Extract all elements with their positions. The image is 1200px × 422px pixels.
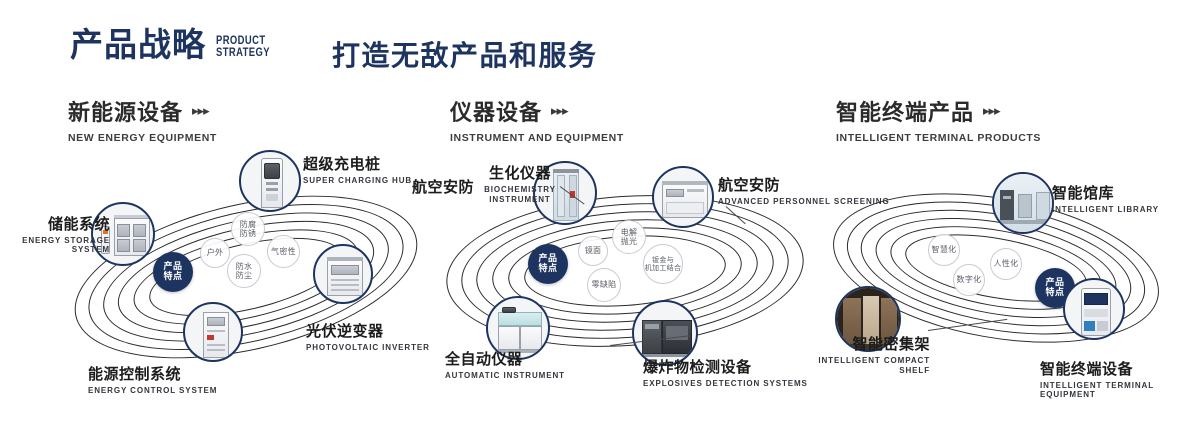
feature-line1: 防腐 xyxy=(240,220,257,230)
core-line1: 产品 xyxy=(1045,278,1064,289)
node-label-pv-inverter: 光伏逆变器 PHOTOVOLTAIC INVERTER xyxy=(306,320,430,352)
node-label-en: ENERGY CONTROL SYSTEM xyxy=(88,386,217,395)
core-bubble: 产品 特点 xyxy=(528,244,568,284)
product-node-personnel-screening[interactable] xyxy=(652,166,714,228)
node-label-cn: 全自动仪器 xyxy=(445,348,565,369)
node-label-cn: 光伏逆变器 xyxy=(306,320,430,341)
feature-bubble: 智慧化 xyxy=(928,234,960,266)
core-line2: 特点 xyxy=(538,264,557,275)
node-label-en: EXPLOSIVES DETECTION SYSTEMS xyxy=(643,379,808,388)
feature-bubble: 防水 防尘 xyxy=(227,254,261,288)
core-bubble: 产品 特点 xyxy=(153,252,193,292)
feature-line1: 人性化 xyxy=(994,259,1019,269)
page-title: 产品战略 PRODUCT STRATEGY xyxy=(70,28,282,61)
feature-bubble: 电解 抛光 xyxy=(612,220,646,254)
node-label-terminal-equipment: 智能终端设备 INTELLIGENT TERMINAL EQUIPMENT xyxy=(1040,358,1200,399)
feature-line2: 抛光 xyxy=(621,237,638,247)
section-title-cn: 智能终端产品 xyxy=(836,95,974,127)
section-title-en: NEW ENERGY EQUIPMENT xyxy=(68,132,217,144)
feature-line2: 机加工结合 xyxy=(645,264,682,273)
product-node-pv-inverter[interactable] xyxy=(313,244,373,304)
feature-line1: 零缺陷 xyxy=(592,280,617,290)
chevron-right-icon: ▸▸▸ xyxy=(192,103,209,119)
node-label-explosives-detection: 爆炸物检测设备 EXPLOSIVES DETECTION SYSTEMS xyxy=(643,356,808,388)
core-line2: 特点 xyxy=(163,272,182,283)
feature-line1: 户外 xyxy=(207,248,224,258)
chevron-right-icon: ▸▸▸ xyxy=(551,103,568,119)
node-label-en: PHOTOVOLTAIC INVERTER xyxy=(306,343,430,352)
feature-line2: 防尘 xyxy=(236,271,253,281)
node-label-biochemistry: 生化仪器 BIOCHEMISTRY INSTRUMENT xyxy=(460,162,580,205)
section-title-en: INTELLIGENT TERMINAL PRODUCTS xyxy=(836,132,1041,144)
node-label-charging-hub: 超级充电桩 SUPER CHARGING HUB xyxy=(303,153,412,185)
node-label-cn: 智能馆库 xyxy=(1052,182,1159,203)
product-node-intelligent-library[interactable] xyxy=(992,172,1054,234)
feature-bubble: 数字化 xyxy=(953,264,985,296)
node-label-intelligent-library: 智能馆库 INTELLIGENT LIBRARY xyxy=(1052,182,1159,214)
title-en-line2: STRATEGY xyxy=(216,47,270,59)
core-line2: 特点 xyxy=(1045,288,1064,299)
node-label-en: INTELLIGENT COMPACT SHELF xyxy=(790,356,930,376)
node-label-en: ENERGY STORAGE SYSTEM xyxy=(10,236,110,254)
node-label-cn: 能源控制系统 xyxy=(88,363,217,384)
feature-line1: 气密性 xyxy=(271,247,296,257)
title-en-line1: PRODUCT xyxy=(216,35,270,47)
section-title-en: INSTRUMENT AND EQUIPMENT xyxy=(450,132,624,144)
feature-bubble: 气密性 xyxy=(267,235,300,268)
feature-bubble: 户外 xyxy=(200,238,230,268)
node-label-cn: 生化仪器 xyxy=(460,162,580,183)
feature-line1: 钣金与 xyxy=(645,256,682,265)
core-line1: 产品 xyxy=(163,262,182,273)
section-heading-new-energy: 新能源设备 ▸▸▸ NEW ENERGY EQUIPMENT xyxy=(68,95,217,144)
node-label-en: INTELLIGENT LIBRARY xyxy=(1052,205,1159,214)
feature-line1: 数字化 xyxy=(957,275,982,285)
feature-line1: 智慧化 xyxy=(932,245,957,255)
feature-bubble: 镜面 xyxy=(578,236,608,266)
title-en: PRODUCT STRATEGY xyxy=(216,35,270,59)
product-node-energy-control[interactable] xyxy=(183,302,243,362)
section-title-cn: 仪器设备 xyxy=(450,95,542,127)
section-heading-intelligent-terminal: 智能终端产品 ▸▸▸ INTELLIGENT TERMINAL PRODUCTS xyxy=(836,95,1041,144)
node-label-cn: 智能密集架 xyxy=(790,333,930,354)
node-label-cn: 超级充电桩 xyxy=(303,153,412,174)
node-label-energy-control: 能源控制系统 ENERGY CONTROL SYSTEM xyxy=(88,363,217,395)
product-node-charging-hub[interactable] xyxy=(239,150,301,212)
node-label-energy-storage: 储能系统 ENERGY STORAGE SYSTEM xyxy=(10,213,110,254)
title-cn: 产品战略 xyxy=(70,28,206,61)
feature-bubble: 人性化 xyxy=(990,248,1022,280)
feature-line1: 镜面 xyxy=(585,246,602,256)
product-node-terminal-equipment[interactable] xyxy=(1063,278,1125,340)
node-label-automatic-instrument: 全自动仪器 AUTOMATIC INSTRUMENT xyxy=(445,348,565,380)
core-line1: 产品 xyxy=(538,254,557,265)
page-subtitle: 打造无敌产品和服务 xyxy=(332,34,598,74)
node-label-cn: 智能终端设备 xyxy=(1040,358,1200,379)
node-label-compact-shelf: 智能密集架 INTELLIGENT COMPACT SHELF xyxy=(790,333,930,376)
node-label-en: INTELLIGENT TERMINAL EQUIPMENT xyxy=(1040,381,1200,399)
node-label-en: SUPER CHARGING HUB xyxy=(303,176,412,185)
node-label-cn: 储能系统 xyxy=(10,213,110,234)
feature-line2: 防锈 xyxy=(240,229,257,239)
chevron-right-icon: ▸▸▸ xyxy=(983,103,1000,119)
feature-bubble: 钣金与 机加工结合 xyxy=(643,244,683,284)
node-label-cn: 爆炸物检测设备 xyxy=(643,356,808,377)
feature-bubble: 零缺陷 xyxy=(587,268,621,302)
node-label-en: AUTOMATIC INSTRUMENT xyxy=(445,371,565,380)
cluster-new-energy: 产品 特点 户外 防腐 防锈 防水 防尘 气密性 xyxy=(55,150,455,390)
feature-bubble: 防腐 防锈 xyxy=(231,212,265,246)
infographic-canvas: 产品战略 PRODUCT STRATEGY 打造无敌产品和服务 新能源设备 ▸▸… xyxy=(0,0,1200,422)
section-title-cn: 新能源设备 xyxy=(68,95,183,127)
section-heading-instrument: 仪器设备 ▸▸▸ INSTRUMENT AND EQUIPMENT xyxy=(450,95,624,144)
feature-line1: 电解 xyxy=(621,228,638,238)
feature-line1: 防水 xyxy=(236,262,253,272)
